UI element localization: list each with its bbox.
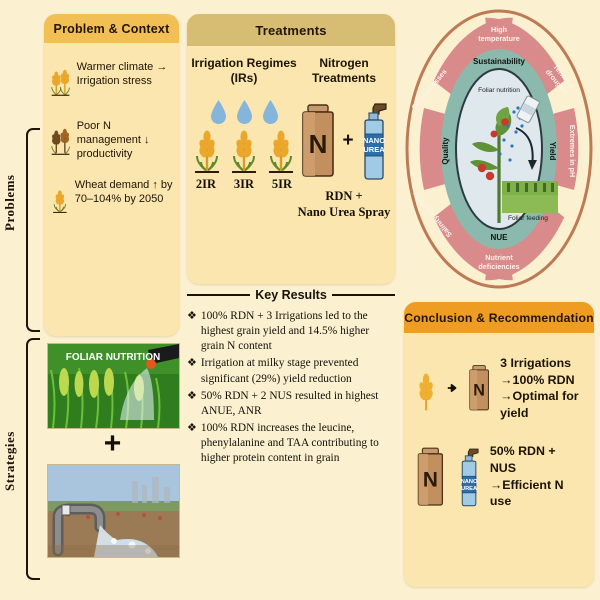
treatments-card: Treatments Irrigation Regimes (IRs) (187, 14, 395, 284)
foliar-photo-art: FOLIAR NUTRITION (48, 344, 179, 428)
list-item: ❖ Irrigation at milky stage prevented si… (187, 356, 395, 386)
wheat-icon (50, 176, 70, 226)
list-item: ❖ 100% RDN increases the leucine, phenyl… (187, 421, 395, 466)
plus-sign: + (342, 130, 353, 152)
bottle-label-line1: NANO (460, 479, 477, 485)
foliar-nutrition-photo: FOLIAR NUTRITION (47, 343, 180, 429)
bag-letter: N (423, 468, 438, 491)
water-drop-group (191, 99, 297, 125)
water-drop-icon (262, 99, 279, 125)
diamond-bullet-icon: ❖ (187, 309, 197, 354)
wheat-icon (413, 357, 439, 419)
ir-label-group: 2IR 3IR 5IR (191, 177, 297, 192)
diamond-bullet-icon: ❖ (187, 389, 197, 419)
water-drop-icon (236, 99, 253, 125)
bag-letter: N (473, 382, 485, 400)
list-item: ❖ 100% RDN + 3 Irrigations led to the hi… (187, 309, 395, 354)
segment-label-extremes-in-ph: Extremes in pH (568, 125, 577, 177)
problem-context-title: Problem & Context (44, 14, 179, 43)
nue-circular-diagram: Hightemperature Terminaldroughts Extreme… (404, 8, 594, 290)
irrigation-regimes-column: Irrigation Regimes (IRs) (191, 56, 297, 221)
diamond-bullet-icon: ❖ (187, 421, 197, 466)
problem-item-text: Poor N management ↓ productivity (77, 117, 173, 161)
problem-item-text: Warmer climate → Irrigation stress (77, 58, 173, 88)
mid-label-yield: Yield (548, 142, 557, 161)
wheat-icon (50, 58, 72, 108)
conclusion-line: →100% RDN (500, 372, 585, 389)
key-result-text: Irrigation at milky stage prevented sign… (201, 356, 395, 386)
key-result-text: 100% RDN + 3 Irrigations led to the high… (201, 309, 395, 354)
ir-label: 3IR (229, 177, 259, 192)
arrow-right-icon (447, 378, 458, 398)
rail-label-problems: Problems (2, 175, 18, 231)
treatments-title: Treatments (187, 14, 395, 46)
key-results-list: ❖ 100% RDN + 3 Irrigations led to the hi… (187, 309, 395, 467)
plus-separator: + (47, 428, 178, 460)
irrigation-photo-art (48, 465, 179, 557)
nitrogen-treatments-title: Nitrogen Treatments (297, 56, 391, 86)
conclusion-title: Conclusion & Recommendation (404, 302, 594, 333)
irrigation-regimes-title: Irrigation Regimes (IRs) (191, 56, 297, 86)
problem-item-text: Wheat demand ↑ by 70–104% by 2050 (75, 176, 173, 206)
problems-bracket (26, 128, 40, 332)
ir-label: 2IR (191, 177, 221, 192)
side-rail: Problems Strategies (0, 0, 40, 600)
key-result-text: 50% RDN + 2 NUS resulted in highest ANUE… (201, 389, 395, 419)
key-results-section: Key Results ❖ 100% RDN + 3 Irrigations l… (187, 288, 395, 588)
key-result-text: 100% RDN increases the leucine, phenylal… (201, 421, 395, 466)
treatments-body: Irrigation Regimes (IRs) (187, 46, 395, 221)
inner-label-foliar-feeding: Foliar feeding (508, 215, 548, 222)
tubewell-irrigation-photo (47, 464, 180, 558)
key-results-header: Key Results (187, 288, 395, 302)
conclusion-line: →Optimal for yield (500, 388, 585, 421)
divider-right (332, 294, 395, 297)
rail-label-strategies: Strategies (2, 435, 18, 491)
nitrogen-icon-row: N + NANO UREA (297, 100, 391, 182)
bottle-label-line2: UREA (363, 145, 385, 154)
conclusion-recommendation-card: Conclusion & Recommendation N (404, 302, 594, 587)
water-drop-icon (210, 99, 227, 125)
nitrogen-caption-line1: RDN + (297, 188, 391, 204)
fertilizer-bag-icon: N (466, 357, 492, 419)
mid-label-quality: Quality (441, 137, 450, 165)
conclusion-text-1: 3 Irrigations →100% RDN →Optimal for yie… (500, 355, 585, 421)
conclusion-row-2: N NANO UREA 50% RDN + NUS →Efficient N u… (404, 443, 594, 509)
conclusion-line: 3 Irrigations (500, 355, 585, 372)
list-item: Warmer climate → Irrigation stress (50, 58, 173, 108)
fertilizer-bag-icon: N (413, 445, 448, 509)
bag-letter: N (309, 129, 328, 159)
mid-label-nue: NUE (491, 233, 509, 242)
wheat-icon (266, 127, 296, 174)
diamond-bullet-icon: ❖ (187, 356, 197, 386)
infographic-canvas: Problems Strategies Problem & Context (0, 0, 600, 600)
wheat-icon (50, 117, 72, 167)
inner-label-foliar-nutrition: Foliar nutrition (478, 87, 520, 94)
conclusion-line: →Efficient N use (490, 477, 585, 510)
spray-bottle-icon: NANO UREA (456, 446, 482, 508)
ir-label: 5IR (267, 177, 297, 192)
conclusion-line: 50% RDN + NUS (490, 443, 585, 476)
nitrogen-treatments-column: Nitrogen Treatments N + NANO (297, 56, 391, 221)
wheat-group (191, 127, 297, 174)
list-item: ❖ 50% RDN + 2 NUS resulted in highest AN… (187, 389, 395, 419)
mid-label-sustainability: Sustainability (473, 57, 526, 66)
list-item: Poor N management ↓ productivity (50, 117, 173, 167)
nitrogen-caption: RDN + Nano Urea Spray (297, 188, 391, 221)
conclusion-text-2: 50% RDN + NUS →Efficient N use (490, 443, 585, 509)
list-item: Wheat demand ↑ by 70–104% by 2050 (50, 176, 173, 226)
circle-diagram-svg: Hightemperature Terminaldroughts Extreme… (404, 8, 594, 290)
conclusion-row-1: N 3 Irrigations →100% RDN →Optimal for y… (404, 355, 594, 421)
bottle-label-line1: NANO (363, 136, 385, 145)
spray-bottle-icon: NANO UREA (357, 100, 391, 182)
divider-left (187, 294, 250, 297)
fertilizer-bag-icon: N (297, 101, 339, 181)
wheat-icon (192, 127, 222, 174)
problem-list: Warmer climate → Irrigation stress (44, 43, 179, 226)
key-results-title: Key Results (255, 288, 327, 302)
bottle-label-line2: UREA (461, 486, 477, 492)
strategies-bracket (26, 338, 40, 580)
nitrogen-caption-line2: Nano Urea Spray (297, 204, 391, 220)
photo-caption-text: FOLIAR NUTRITION (66, 352, 160, 363)
wheat-icon (229, 127, 259, 174)
problem-context-card: Problem & Context (44, 14, 179, 336)
